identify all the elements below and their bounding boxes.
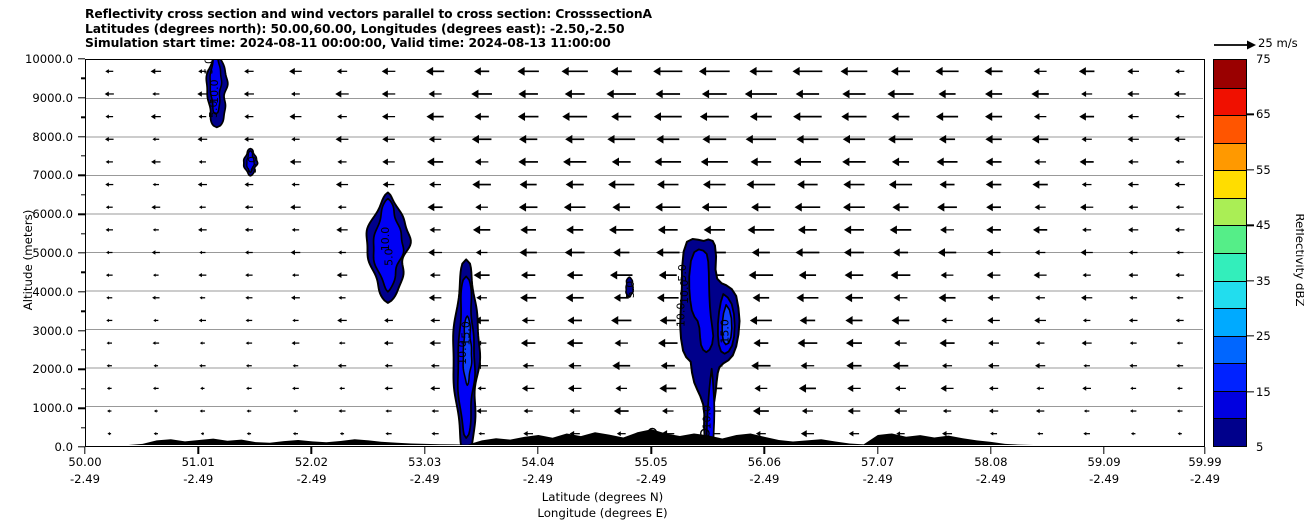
wind-vector-arrow <box>1080 249 1092 256</box>
wind-vector-arrow <box>941 272 954 279</box>
y-tick-label: 1000.0 <box>32 401 73 415</box>
wind-vector-arrow <box>247 409 252 412</box>
x-tick-mark <box>198 447 199 454</box>
wind-vector-arrow <box>426 112 443 121</box>
x-tick-label-longitude: -2.49 <box>863 472 893 486</box>
wind-vector-arrow <box>199 318 206 322</box>
wind-vector-arrow <box>247 432 251 435</box>
wind-vector-arrow <box>940 226 954 234</box>
colorbar-tick-label: 55 <box>1256 163 1271 177</box>
x-tick-mark <box>311 447 312 454</box>
y-tick-mark <box>78 58 85 59</box>
x-tick-label-latitude: 59.09 <box>1087 455 1120 469</box>
wind-vector-arrow <box>1080 158 1094 166</box>
wind-vector-arrow <box>293 364 299 367</box>
wind-vector-arrow <box>339 387 344 390</box>
wind-vector-arrow <box>1127 91 1139 97</box>
contour-label: 5.0 <box>202 60 215 75</box>
wind-vector-arrow <box>654 158 681 167</box>
wind-vector-arrow <box>657 293 679 302</box>
wind-vector-arrow <box>1079 67 1095 75</box>
wind-vector-arrow <box>654 112 682 121</box>
wind-vector-arrow <box>894 408 907 415</box>
colorbar-band <box>1214 143 1246 171</box>
colorbar-band <box>1214 281 1246 309</box>
wind-vector-arrow <box>431 432 438 436</box>
y-tick-mark <box>78 369 85 370</box>
wind-vector-arrow <box>291 295 300 300</box>
wind-vector-arrow <box>615 339 628 346</box>
wind-vector-arrow <box>337 318 347 323</box>
wind-vector-arrow <box>847 385 861 392</box>
wind-vector-arrow <box>1177 387 1182 390</box>
y-tick-mark-minor <box>81 194 85 195</box>
wind-vector-arrow <box>702 135 726 144</box>
x-tick-label-longitude: -2.49 <box>636 472 666 486</box>
y-tick-label: 6000.0 <box>32 207 73 221</box>
wind-vector-arrow <box>199 205 206 209</box>
wind-vector-arrow <box>107 341 112 344</box>
wind-vector-arrow <box>291 182 299 186</box>
wind-vector-arrow <box>153 319 158 322</box>
wind-vector-arrow <box>753 407 769 416</box>
wind-vector-arrow <box>988 340 999 346</box>
wind-vector-arrow <box>1129 296 1137 300</box>
wind-vector-arrow <box>382 113 395 120</box>
wind-vector-arrow <box>566 225 583 234</box>
wind-vector-arrow <box>106 160 113 164</box>
wind-vector-arrow <box>565 248 585 257</box>
wind-vector-arrow <box>612 203 630 212</box>
wind-vector-arrow <box>844 225 864 234</box>
wind-vector-arrow <box>478 386 486 390</box>
wind-vector-arrow <box>612 158 631 167</box>
wind-vector-arrow <box>1128 159 1138 165</box>
wind-vector-arrow <box>893 248 908 256</box>
wind-vector-arrow <box>987 317 1000 324</box>
wind-vector-arrow <box>520 226 536 234</box>
wind-vector-arrow <box>476 249 488 255</box>
colorbar-tick-mark <box>1247 169 1254 170</box>
wind-vector-arrow <box>153 273 159 276</box>
wind-vector-arrow <box>198 228 207 233</box>
wind-vector-arrow <box>290 159 301 165</box>
wind-vector-arrow <box>291 92 300 97</box>
wind-vector-arrow <box>753 293 770 302</box>
wind-vector-arrow <box>522 317 535 324</box>
wind-vector-arrow <box>609 225 633 234</box>
wind-vector-arrow <box>522 385 535 392</box>
wind-vector-arrow <box>521 339 536 347</box>
wind-vector-arrow <box>1035 250 1045 256</box>
wind-vector-arrow <box>289 113 301 119</box>
wind-vector-arrow <box>1128 182 1139 188</box>
wind-vector-arrow <box>846 339 862 348</box>
contour-label: 5.0 <box>624 281 637 299</box>
wind-vector-arrow <box>892 316 910 325</box>
colorbar-tick-label: 15 <box>1256 385 1271 399</box>
wind-vector-arrow <box>611 316 631 325</box>
wind-vector-arrow <box>1176 205 1184 209</box>
wind-vector-arrow <box>338 296 345 300</box>
wind-vector-arrow <box>937 158 958 167</box>
wind-vector-arrow <box>293 409 298 412</box>
wind-vector-arrow <box>799 384 816 393</box>
wind-vector-arrow <box>292 341 300 345</box>
wind-vector-arrow <box>246 387 252 390</box>
wind-vector-arrow <box>518 112 539 121</box>
wind-vector-arrow <box>337 159 346 164</box>
wind-vector-arrow <box>939 135 955 144</box>
wind-vector-arrow <box>429 181 441 187</box>
wind-vector-arrow <box>937 203 957 212</box>
wind-vector-arrow <box>567 271 583 280</box>
wind-vector-arrow <box>1083 364 1090 368</box>
wind-vector-arrow <box>517 67 538 76</box>
x-tick-label-longitude: -2.49 <box>976 472 1006 486</box>
wind-vector-arrow <box>563 158 586 167</box>
wind-vector-arrow <box>662 408 674 414</box>
wind-vector-arrow <box>842 90 865 99</box>
y-tick-label: 3000.0 <box>32 324 73 338</box>
wind-vector-arrow <box>655 90 680 99</box>
wind-vector-arrow <box>986 203 1001 211</box>
wind-vector-arrow <box>889 180 912 189</box>
wind-vector-arrow <box>843 135 865 144</box>
contour-label: 5.0 <box>382 248 395 266</box>
plot-area: 5.010.05.05.010.05.015.010.05.05.010.010… <box>85 59 1205 447</box>
title-line-1: Reflectivity cross section and wind vect… <box>85 7 1185 22</box>
wind-vector-arrow <box>702 203 727 212</box>
wind-vector-arrow <box>748 225 775 234</box>
x-tick-label-latitude: 52.02 <box>295 455 328 469</box>
wind-vector-arrow <box>474 113 488 121</box>
wind-vector-arrow <box>940 385 953 392</box>
wind-vector-arrow <box>200 341 205 344</box>
wind-vector-arrow <box>426 67 444 76</box>
wind-vector-arrow <box>1082 227 1091 232</box>
colorbar-band <box>1214 391 1246 419</box>
wind-vector-arrow <box>987 249 1001 256</box>
contour-label: 10.0 <box>208 79 221 104</box>
wind-vector-arrow <box>753 339 768 347</box>
colorbar-tick-label: 5 <box>1256 440 1263 454</box>
wind-vector-arrow <box>244 114 253 119</box>
colorbar-band <box>1214 418 1246 446</box>
colorbar-band <box>1214 60 1246 88</box>
wind-vector-arrow <box>152 250 160 254</box>
wind-vector-arrow <box>892 203 908 212</box>
wind-vector-arrow <box>801 430 814 437</box>
wind-vector-arrow <box>939 339 954 347</box>
wind-vector-arrow <box>518 90 538 99</box>
wind-vector-arrow <box>1083 432 1090 436</box>
wind-vector-arrow <box>152 296 159 300</box>
wind-vector-arrow <box>338 363 346 368</box>
wind-vector-arrow <box>382 68 396 75</box>
wind-vector-arrow <box>107 432 111 435</box>
x-tick-label-latitude: 56.06 <box>748 455 781 469</box>
wind-vector-arrow <box>613 248 629 257</box>
wind-vector-arrow <box>615 385 627 391</box>
wind-vector-arrow <box>475 204 488 211</box>
wind-vector-arrow <box>107 387 112 390</box>
wind-vector-arrow <box>1036 341 1045 346</box>
wind-vector-arrow <box>1031 90 1048 99</box>
wind-vector-arrow <box>431 363 439 368</box>
wind-vector-arrow <box>990 432 997 436</box>
x-tick-label-latitude: 50.00 <box>68 455 101 469</box>
colorbar-tick-label: 45 <box>1256 218 1271 232</box>
wind-vector-arrow <box>566 293 584 302</box>
wind-vector-arrow <box>291 137 299 142</box>
colorbar <box>1213 59 1247 447</box>
colorbar-band <box>1214 170 1246 198</box>
wind-vector-arrow <box>520 293 536 302</box>
wind-vector-arrow <box>521 271 535 279</box>
wind-vector-arrow <box>106 205 113 209</box>
wind-vector-arrow <box>562 112 587 121</box>
wind-vector-arrow <box>751 158 772 167</box>
wind-vector-arrow <box>429 294 442 301</box>
x-tick-mark <box>424 447 425 454</box>
colorbar-tick-mark <box>1247 391 1254 392</box>
wind-vector-arrow <box>1081 295 1092 301</box>
wind-vector-arrow <box>292 228 299 232</box>
wind-vector-arrow <box>891 67 910 76</box>
wind-vector-arrow <box>942 431 952 436</box>
wind-vector-arrow <box>795 203 821 212</box>
wind-vector-arrow <box>843 180 864 189</box>
wind-vector-arrow <box>608 180 634 189</box>
title-line-3: Simulation start time: 2024-08-11 00:00:… <box>85 36 1185 51</box>
contour-label: 10.0 <box>379 227 392 252</box>
wind-vector-arrow <box>385 409 391 412</box>
y-tick-mark <box>78 175 85 176</box>
wind-vector-arrow <box>384 318 393 323</box>
x-tick-label-latitude: 59.99 <box>1188 455 1221 469</box>
wind-vector-arrow <box>1084 409 1089 412</box>
wind-vector-arrow <box>614 407 629 415</box>
wind-vector-arrow <box>797 180 817 189</box>
wind-vector-arrow <box>201 432 204 435</box>
wind-vector-arrow <box>337 69 347 75</box>
wind-vector-arrow <box>565 90 585 99</box>
x-tick-label-latitude: 57.07 <box>861 455 894 469</box>
wind-vector-arrow <box>940 181 955 189</box>
contour-label: 10.0 <box>700 405 713 430</box>
wind-vector-arrow <box>428 203 443 211</box>
x-tick-mark <box>650 447 651 454</box>
wind-vector-arrow <box>1178 432 1182 435</box>
colorbar-tick-mark <box>1247 280 1254 281</box>
wind-vector-arrow <box>382 159 395 166</box>
wind-vector-arrow <box>429 227 440 233</box>
contour-label: 15.0 <box>718 319 731 344</box>
chart-title-block: Reflectivity cross section and wind vect… <box>85 7 1185 51</box>
wind-vector-arrow <box>562 67 588 76</box>
wind-vector-arrow <box>566 180 584 189</box>
wind-vector-arrow <box>199 160 206 164</box>
x-tick-mark <box>877 447 878 454</box>
wind-vector-arrow <box>245 228 253 232</box>
y-tick-mark <box>78 97 85 98</box>
wind-vector-arrow <box>245 296 252 300</box>
wind-vector-arrow <box>1032 135 1048 144</box>
wind-vector-arrow <box>985 135 1001 144</box>
y-axis-title: Altitude (meters) <box>21 110 35 410</box>
wind-vector-arrow <box>569 408 580 414</box>
y-tick-mark <box>78 291 85 292</box>
wind-vector-arrow <box>894 294 908 302</box>
wind-vector-arrow <box>245 273 252 277</box>
wind-vector-arrow <box>843 203 865 212</box>
title-line-2: Latitudes (degrees north): 50.00,60.00, … <box>85 22 1185 37</box>
wind-vector-arrow <box>151 114 161 119</box>
wind-vector-arrow <box>985 112 1002 121</box>
wind-vector-arrow <box>429 90 442 97</box>
wind-vector-arrow <box>1177 341 1183 344</box>
x-tick-label-longitude: -2.49 <box>1089 472 1119 486</box>
wind-vector-arrow <box>151 159 160 164</box>
wind-vector-arrow <box>385 364 393 368</box>
wind-vector-arrow <box>1130 409 1136 412</box>
x-tick-mark <box>537 447 538 454</box>
plot-canvas: 5.010.05.05.010.05.015.010.05.05.010.010… <box>86 60 1203 445</box>
wind-vector-arrow <box>1128 114 1139 120</box>
wind-vector-arrow <box>335 90 349 97</box>
wind-vector-arrow <box>890 225 912 234</box>
wind-vector-arrow <box>986 226 1001 234</box>
wind-vector-arrow <box>385 432 391 435</box>
wind-vector-arrow <box>382 90 395 97</box>
wind-vector-arrow <box>524 409 533 414</box>
wind-vector-arrow <box>1175 69 1184 74</box>
wind-vector-arrow <box>703 180 726 189</box>
y-tick-label: 0.0 <box>55 440 73 454</box>
y-tick-label: 2000.0 <box>32 362 73 376</box>
wind-vector-arrow <box>1033 226 1047 234</box>
x-tick-mark <box>764 447 765 454</box>
wind-vector-arrow <box>200 296 206 299</box>
wind-vector-arrow <box>986 180 1002 188</box>
wind-vector-arrow <box>105 115 113 119</box>
wind-vector-arrow <box>845 271 864 280</box>
y-tick-mark <box>78 252 85 253</box>
wind-vector-arrow <box>151 205 160 210</box>
wind-vector-arrow <box>849 431 859 437</box>
wind-vector-arrow <box>106 296 112 299</box>
wind-vector-arrow <box>1082 182 1092 187</box>
wind-vector-arrow <box>475 158 489 165</box>
colorbar-tick-mark <box>1247 225 1254 226</box>
wind-vector-arrow <box>153 183 159 186</box>
colorbar-band <box>1214 88 1246 116</box>
wind-vector-arrow <box>1175 114 1184 119</box>
wind-vector-arrow <box>1175 227 1185 232</box>
wind-vector-arrow <box>938 90 955 99</box>
wind-vector-arrow <box>1175 273 1184 278</box>
y-tick-mark-minor <box>81 388 85 389</box>
wind-vector-arrow <box>936 112 958 121</box>
wind-vector-arrow <box>519 203 538 212</box>
wind-vector-arrow <box>1032 180 1047 188</box>
wind-vector-arrow <box>198 273 206 277</box>
wind-vector-arrow <box>1130 387 1136 390</box>
x-tick-mark <box>1103 447 1104 454</box>
wind-vector-arrow <box>244 91 254 96</box>
y-tick-label: 5000.0 <box>32 246 73 260</box>
wind-vector-arrow <box>336 181 348 188</box>
y-tick-label: 9000.0 <box>32 91 73 105</box>
wind-vector-arrow <box>1128 227 1138 232</box>
wind-vector-arrow <box>519 248 536 257</box>
wind-vector-arrow <box>1034 68 1047 75</box>
wind-vector-arrow <box>935 67 958 76</box>
colorbar-band <box>1214 308 1246 336</box>
wind-vector-arrow <box>656 248 680 257</box>
wind-vector-arrow <box>567 339 583 348</box>
wind-vector-arrow <box>848 408 861 415</box>
wind-vector-arrow <box>751 203 770 212</box>
wind-vector-arrow <box>153 341 160 345</box>
wind-vector-arrow <box>199 364 205 367</box>
y-tick-mark-minor <box>81 310 85 311</box>
colorbar-tick-label: 65 <box>1256 107 1271 121</box>
wind-vector-arrow <box>473 225 490 234</box>
y-tick-label: 8000.0 <box>32 130 73 144</box>
wind-vector-arrow <box>1081 91 1092 97</box>
wind-vector-arrow <box>429 340 440 346</box>
wind-vector-arrow <box>292 319 298 322</box>
wind-vector-arrow <box>478 432 484 435</box>
wind-vector-arrow <box>796 135 818 144</box>
wind-vector-arrow <box>752 248 770 257</box>
wind-vector-arrow <box>892 158 909 167</box>
wind-vector-arrow <box>197 91 207 97</box>
wind-vector-arrow <box>887 90 913 99</box>
x-tick-mark <box>990 447 991 454</box>
wind-vector-arrow <box>799 271 816 280</box>
wind-vector-arrow <box>337 114 347 119</box>
wind-vector-arrow <box>472 180 491 189</box>
wind-vector-arrow <box>290 204 301 210</box>
wind-vector-arrow <box>476 295 487 301</box>
wind-vector-arrow <box>989 386 998 391</box>
wind-vector-arrow <box>105 182 113 186</box>
wind-vector-arrow <box>427 158 443 167</box>
terrain-layer <box>86 429 1203 445</box>
wind-vector-arrow <box>291 250 301 255</box>
wind-vector-arrow <box>702 90 727 99</box>
wind-vector-arrow <box>658 339 678 348</box>
x-tick-label-longitude: -2.49 <box>296 472 326 486</box>
wind-vector-arrow <box>794 158 821 167</box>
contour-label: 5.0 <box>676 264 689 282</box>
wind-vector-arrow <box>701 158 728 167</box>
wind-vector-arrow <box>520 180 537 189</box>
wind-vector-arrow <box>891 112 909 121</box>
wind-vector-arrow <box>796 293 818 302</box>
colorbar-band <box>1214 225 1246 253</box>
x-tick-label-longitude: -2.49 <box>410 472 440 486</box>
wind-vector-arrow <box>1128 273 1137 278</box>
x-tick-mark <box>84 447 85 454</box>
wind-vector-arrow <box>154 409 158 412</box>
wind-vector-arrow <box>939 293 956 302</box>
wind-vector-arrow <box>607 90 636 99</box>
wind-vector-arrow <box>746 135 776 144</box>
